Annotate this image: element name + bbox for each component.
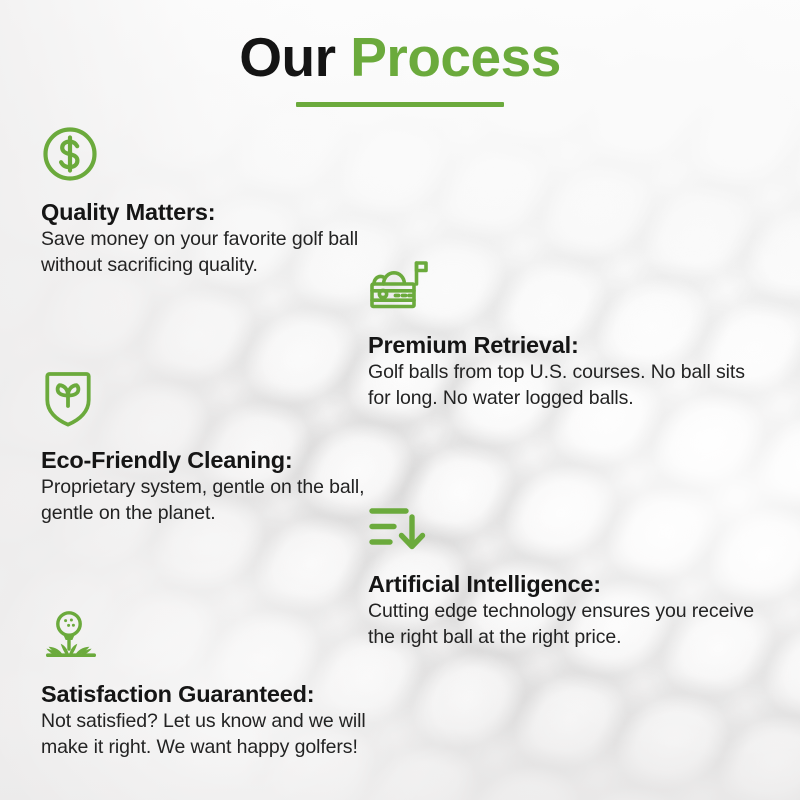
feature-heading: Eco-Friendly Cleaning: [41,446,371,474]
feature-body: Cutting edge technology ensures you rece… [368,599,768,650]
sort-descending-arrow-icon [368,503,768,558]
feature-heading: Satisfaction Guaranteed: [41,680,386,708]
golf-ball-tee-grass-icon [41,608,386,671]
feature-block-artificial-intelligence: Artificial Intelligence: Cutting edge te… [368,503,768,651]
feature-body: Save money on your favorite golf ball wi… [41,227,386,278]
content-layer: Our Process Quality Matters: Save money … [0,0,800,800]
page-title-word-our: Our [239,26,335,88]
feature-body: Proprietary system, gentle on the ball, … [41,475,371,526]
page-title-block: Our Process [0,29,800,107]
feature-block-satisfaction-guaranteed: Satisfaction Guaranteed: Not satisfied? … [41,608,386,761]
feature-heading: Artificial Intelligence: [368,570,768,598]
feature-heading: Premium Retrieval: [368,331,768,359]
feature-block-quality-matters: Quality Matters: Save money on your favo… [41,125,386,279]
feature-block-premium-retrieval: Premium Retrieval: Golf balls from top U… [368,257,768,412]
page-title: Our Process [0,29,800,87]
our-process-infographic: Our Process Quality Matters: Save money … [0,0,800,800]
page-title-word-process: Process [350,26,561,88]
dollar-circle-icon [41,125,386,188]
golf-course-crate-flag-icon [368,257,768,320]
title-underline-rule [296,102,504,107]
feature-body: Not satisfied? Let us know and we will m… [41,709,386,760]
feature-body: Golf balls from top U.S. courses. No bal… [368,360,768,411]
feature-block-eco-friendly-cleaning: Eco-Friendly Cleaning: Proprietary syste… [41,370,371,527]
feature-heading: Quality Matters: [41,198,386,226]
shield-leaf-icon [41,370,371,435]
